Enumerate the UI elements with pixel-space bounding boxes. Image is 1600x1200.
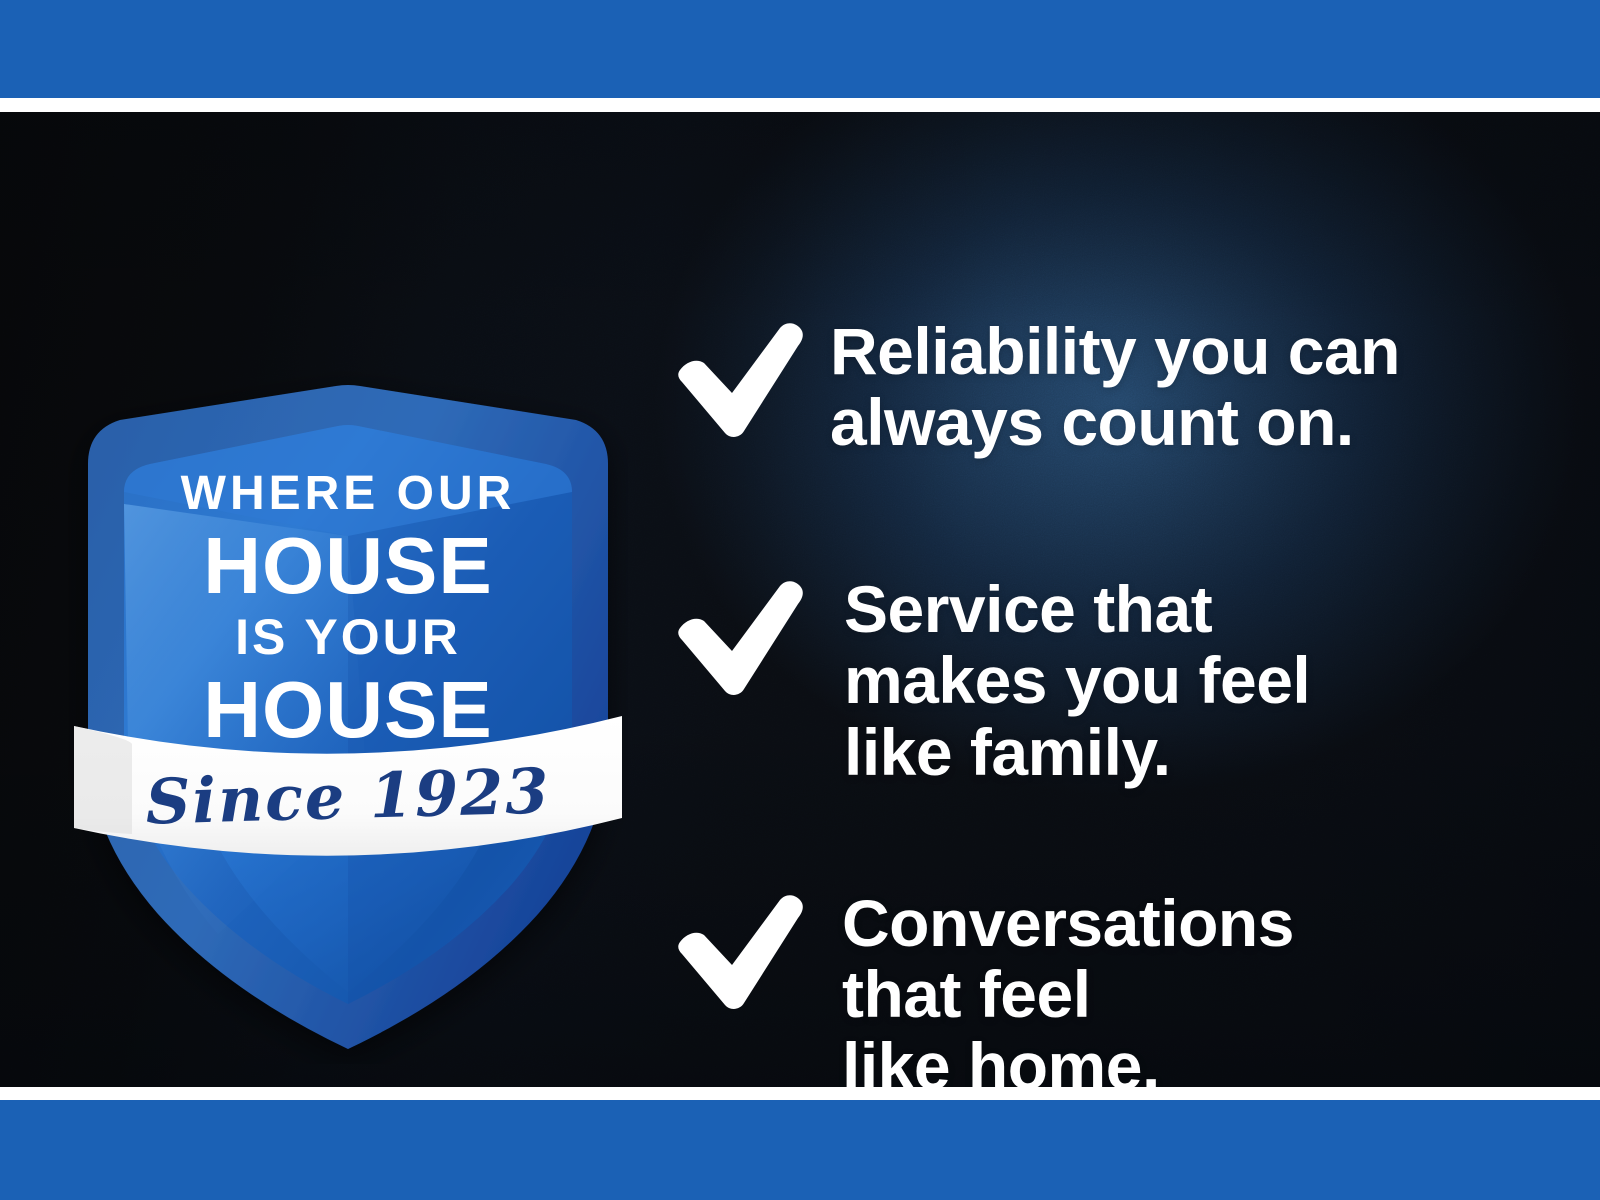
list-item: Service that makes you feel like family.	[672, 570, 1572, 788]
check-icon	[672, 318, 812, 444]
check-icon	[672, 576, 812, 702]
list-item-text: Reliability you can always count on.	[830, 312, 1572, 459]
check-icon	[672, 890, 812, 1016]
list-item: Reliability you can always count on.	[672, 312, 1572, 459]
shield-line-1: Where our	[68, 470, 628, 518]
list-item-text: Service that makes you feel like family.	[844, 570, 1572, 788]
shield-emblem: Where our House is your House Since 1923	[68, 274, 628, 1064]
shield-ribbon-text: Since 1923	[67, 752, 629, 841]
shield-line-2: House	[68, 526, 628, 606]
list-item: Conversations that feel like home.	[672, 884, 1572, 1087]
list-item-text: Conversations that feel like home.	[842, 884, 1572, 1087]
poster-stage: Where our House is your House Since 1923…	[0, 112, 1600, 1087]
shield-line-4: House	[68, 670, 628, 750]
promo-poster: Where our House is your House Since 1923…	[0, 0, 1600, 1200]
bottom-brand-bar	[0, 1100, 1600, 1200]
shield-line-3: is your	[68, 612, 628, 662]
top-brand-bar	[0, 0, 1600, 98]
